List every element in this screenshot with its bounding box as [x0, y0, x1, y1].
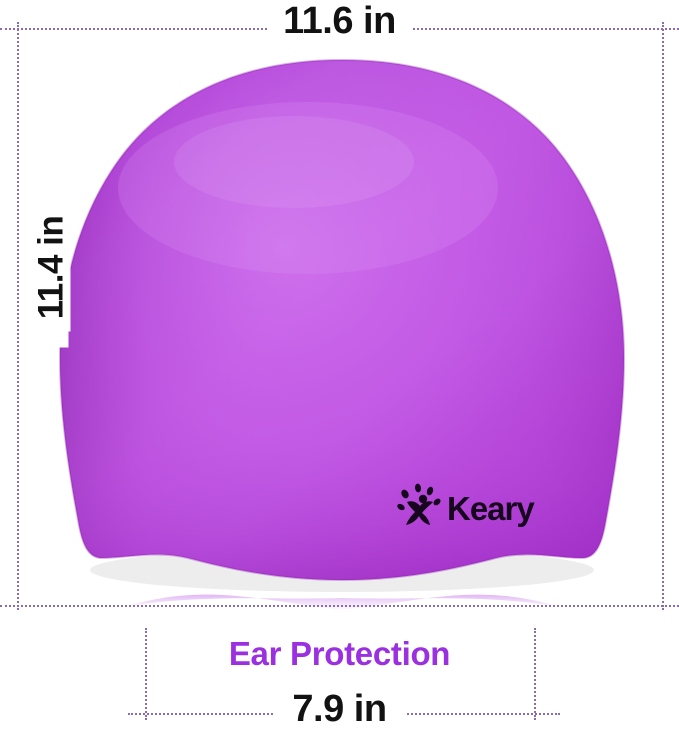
dimension-label-width-bottom: 7.9 in [0, 690, 679, 728]
dimension-label-height-left: 11.4 in [34, 188, 69, 348]
brand-logo-text: Keary [447, 490, 535, 527]
swim-cap-image [58, 58, 626, 613]
dimension-label-width-top: 11.6 in [0, 2, 679, 40]
dimension-width-top-value: 11.6 in [267, 0, 412, 42]
dimension-height-left-value: 11.4 in [32, 204, 71, 332]
cap-reflection [128, 595, 556, 610]
guide-line-left [17, 22, 19, 610]
product-dimension-infographic: Keary 11.6 in 11.4 in 7.9 in Ear Protect… [0, 0, 679, 733]
brand-logo: Keary [393, 480, 539, 530]
feature-caption: Ear Protection [0, 637, 679, 670]
guide-line-bottom [0, 605, 679, 607]
cap-body [58, 58, 626, 613]
guide-line-right [662, 22, 664, 610]
water-splash-icon [396, 483, 442, 525]
dimension-width-bottom-value: 7.9 in [274, 688, 404, 730]
swim-cap-illustration [58, 58, 626, 613]
